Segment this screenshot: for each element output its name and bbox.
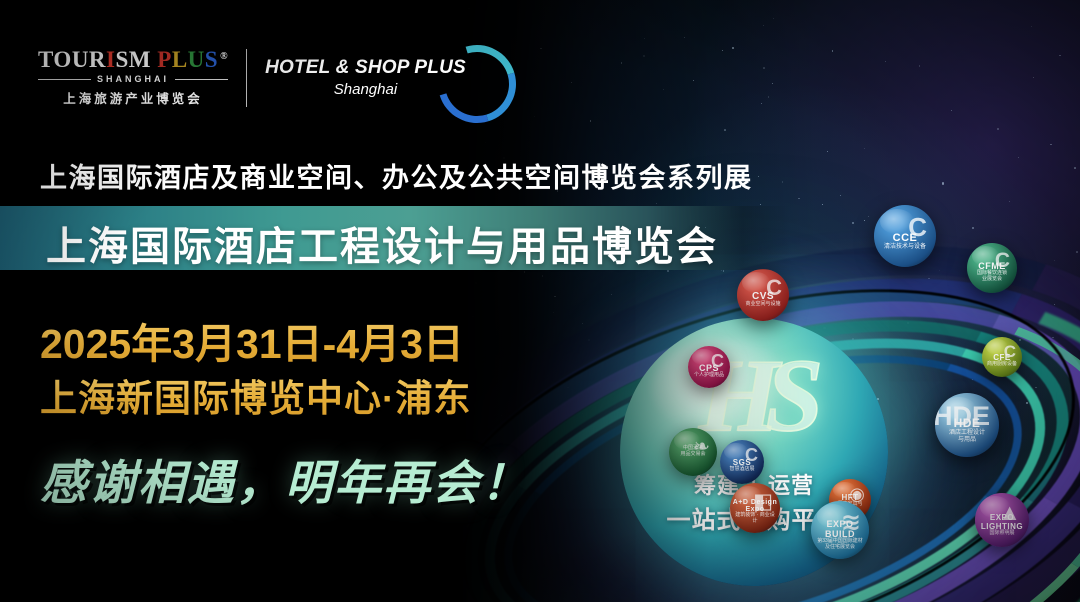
star-dot [468, 8, 470, 10]
badge-code-label: CVS [752, 291, 774, 302]
hotel-shop-plus-logo: HOTEL & SHOP PLUS Shanghai [265, 57, 512, 98]
star-dot [997, 128, 999, 130]
brand-badge-expo-lighting[interactable]: ▲EXPO LIGHTING国际照明展 [975, 493, 1029, 547]
star-dot [761, 103, 762, 104]
series-headline: 上海国际酒店及商业空间、办公及公共空间博览会系列展 [40, 156, 753, 195]
badge-subtitle: 建筑装饰 · 商业设计 [734, 513, 777, 525]
star-dot [1076, 251, 1078, 253]
tourism-city-row: SHANGHAI [38, 74, 228, 84]
hs-monogram: HS [620, 344, 888, 448]
star-dot [534, 116, 535, 117]
event-venue: 上海新国际博览中心·浦东 [40, 368, 471, 422]
star-dot [763, 25, 764, 26]
plus-letter-u: U [188, 48, 205, 71]
star-dot [582, 323, 583, 324]
rule-left [38, 79, 91, 80]
star-dot [554, 296, 556, 298]
hsp-title-en: HOTEL & SHOP PLUS [265, 57, 466, 79]
star-dot [919, 65, 921, 67]
badge-code-label: CCE [893, 232, 918, 244]
star-dot [1074, 167, 1076, 169]
star-dot [798, 198, 799, 199]
tourism-plus-logo: TOURISM PLUS® SHANGHAI 上海旅游产业博览会 [38, 48, 228, 107]
tourism-letter-i: I [106, 48, 115, 71]
star-dot [724, 129, 726, 131]
star-dot [942, 182, 944, 184]
star-dot [540, 48, 541, 49]
badge-subtitle: 清洁技术与设备 [884, 244, 926, 251]
badge-subtitle: 智慧酒店展 [729, 467, 754, 473]
star-dot [571, 82, 572, 83]
closing-slogan: 感谢相遇，明年再会！ [40, 444, 530, 513]
brand-badge-hde[interactable]: HDEHDE酒店工程设计 与用品 [935, 393, 999, 457]
brand-badge-cfme[interactable]: CCFME国际餐饮连锁 业展览会 [967, 243, 1017, 293]
hsp-city-en: Shanghai [265, 81, 466, 98]
star-dot [885, 61, 886, 62]
star-dot [1009, 201, 1010, 202]
star-dot [951, 110, 953, 112]
star-dot [472, 316, 474, 318]
brand-badge-a-d-design-expo[interactable]: ◧A+D Design Expo建筑装饰 · 商业设计 [730, 483, 780, 533]
logo-divider [246, 49, 247, 107]
brand-badge-expo-build[interactable]: ≋EXPO BUILD第33届中国国际建材 及住宅展览会 [811, 501, 869, 559]
badge-subtitle: 中国酒店 用品交易会 [680, 446, 705, 458]
brand-badge-sgs[interactable]: CSGS智慧酒店展 [720, 440, 764, 484]
star-dot [852, 222, 853, 223]
star-dot [782, 181, 783, 182]
logo-lockup: TOURISM PLUS® SHANGHAI 上海旅游产业博览会 HOTEL &… [38, 48, 512, 107]
star-dot [827, 151, 828, 152]
badge-subtitle: 国际照明展 [989, 531, 1014, 537]
plus-letter-p: P [157, 48, 172, 71]
tourism-name-cn: 上海旅游产业博览会 [63, 88, 203, 107]
tourism-part-2: SM [116, 48, 152, 71]
star-dot [590, 120, 592, 122]
star-dot [763, 67, 765, 69]
rule-right [175, 79, 228, 80]
exhibition-title: 上海国际酒店工程设计与用品博览会 [46, 214, 718, 272]
star-dot [553, 312, 554, 313]
star-dot [1033, 77, 1034, 78]
plus-letter-l: L [172, 48, 188, 71]
tourism-city-label: SHANGHAI [97, 74, 169, 84]
brand-badge-cfe[interactable]: CCFE商用厨房设备 [982, 337, 1022, 377]
star-dot [475, 282, 477, 284]
brand-badge-cps[interactable]: CCPS个人护理用品 [688, 346, 730, 388]
star-dot [485, 142, 486, 143]
promo-banner: HS 筹建 + 运营 一站式采购平台 CCCE清洁技术与设备CCFME国际餐饮连… [0, 0, 1080, 602]
star-dot [611, 294, 612, 295]
star-dot [772, 83, 773, 84]
star-dot [643, 55, 645, 57]
brand-badge-cvs[interactable]: CCVS商业空间与设施 [737, 269, 789, 321]
star-dot [542, 275, 543, 276]
star-dot [773, 18, 774, 19]
tourism-plus-wordmark: TOURISM PLUS® [38, 48, 228, 71]
badge-code-label: EXPO BUILD [811, 519, 869, 539]
badge-subtitle: 国际餐饮连锁 业展览会 [977, 271, 1007, 283]
star-dot [868, 216, 869, 217]
star-dot [1059, 55, 1061, 57]
badge-subtitle: 个人护理用品 [694, 373, 724, 379]
brand-badge-cce[interactable]: CCCE清洁技术与设备 [874, 205, 936, 267]
star-dot [732, 47, 734, 49]
registered-mark: ® [220, 52, 228, 62]
badge-code-label: EXPO LIGHTING [975, 513, 1029, 531]
star-dot [972, 227, 974, 229]
star-dot [693, 80, 694, 81]
star-dot [822, 204, 823, 205]
star-dot [768, 96, 769, 97]
star-dot [621, 62, 623, 64]
badge-subtitle: 第33届中国国际建材 及住宅展览会 [817, 539, 863, 551]
tourism-part-1: TOUR [38, 48, 106, 71]
badge-subtitle: 酒店工程设计 与用品 [949, 430, 985, 444]
badge-code-label: HDE [954, 416, 981, 430]
badge-subtitle: 商用厨房设备 [987, 362, 1017, 368]
star-dot [864, 148, 865, 149]
star-dot [1054, 260, 1055, 261]
badge-subtitle: 商业空间与设施 [745, 302, 780, 308]
cosmic-artwork: HS 筹建 + 运营 一站式采购平台 CCCE清洁技术与设备CCFME国际餐饮连… [460, 0, 1080, 602]
star-dot [684, 37, 685, 38]
plus-letter-s: S [205, 48, 218, 71]
star-dot [656, 203, 657, 204]
star-dot [722, 50, 723, 51]
star-dot [840, 195, 841, 196]
star-dot [864, 220, 865, 221]
star-dot [832, 50, 834, 52]
star-dot [663, 89, 664, 90]
event-date: 2025年3月31日-4月3日 [40, 310, 464, 370]
star-dot [723, 270, 724, 271]
brand-badge-cn-6[interactable]: ❧中国酒店 用品交易会 [669, 428, 717, 476]
star-dot [1050, 144, 1051, 145]
